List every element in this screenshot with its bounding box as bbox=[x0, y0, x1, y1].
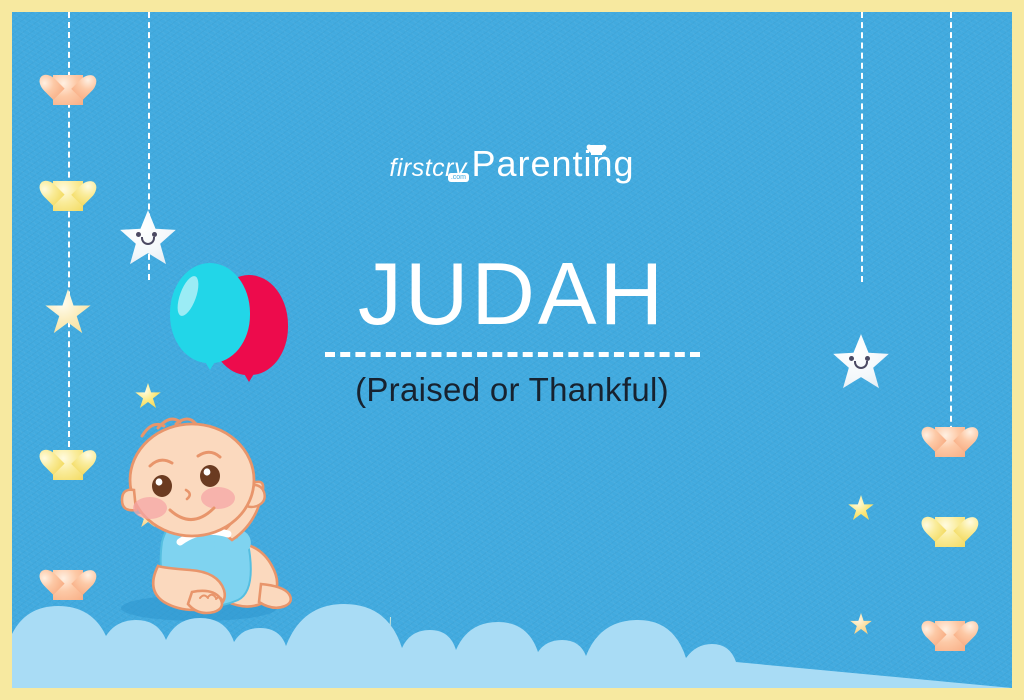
name-card: firstcry .com Parenting JUDAH (Praised o… bbox=[0, 0, 1024, 700]
heart-icon bbox=[935, 427, 965, 457]
star-icon bbox=[848, 495, 874, 521]
logo-section-text: Parenting bbox=[471, 145, 634, 183]
heart-icon bbox=[53, 75, 83, 105]
heart-icon bbox=[591, 145, 602, 155]
dashed-divider bbox=[325, 352, 700, 357]
sky-background: firstcry .com Parenting JUDAH (Praised o… bbox=[12, 12, 1012, 688]
baby-name: JUDAH bbox=[12, 250, 1012, 338]
logo-section-label: Parenting bbox=[471, 143, 634, 184]
heart-icon bbox=[53, 181, 83, 211]
heart-icon bbox=[935, 517, 965, 547]
logo-dotcom-badge: .com bbox=[448, 173, 469, 182]
cloud-band bbox=[12, 578, 1012, 688]
heart-icon bbox=[53, 450, 83, 480]
firstcry-parenting-logo: firstcry .com Parenting bbox=[12, 142, 1012, 183]
name-block: JUDAH (Praised or Thankful) bbox=[12, 250, 1012, 409]
logo-brand-text: firstcry .com bbox=[389, 156, 467, 181]
